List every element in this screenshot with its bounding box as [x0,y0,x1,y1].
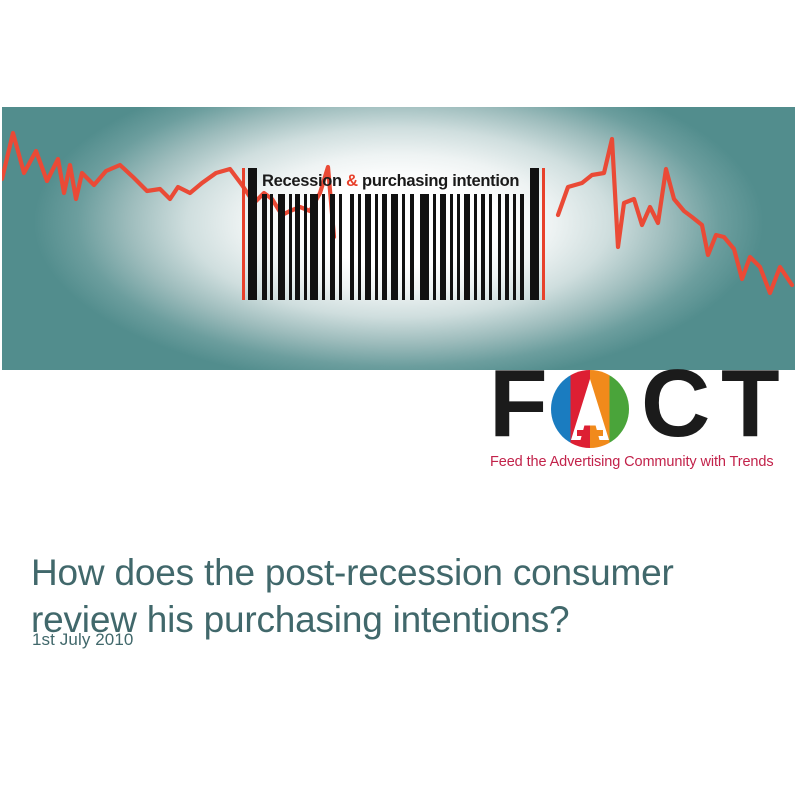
barcode-label: Recession & purchasing intention [262,170,542,192]
logo-letter-a-colorwheel [551,370,629,448]
logo-tagline: Feed the Advertising Community with Tren… [490,454,774,470]
barcode-graphic: Recession & purchasing intention [242,168,556,300]
logo-letter-t: T [721,360,778,448]
logo-letter-f: F [489,360,546,448]
barcode-label-part1: Recession [262,172,346,190]
page-date: 1st July 2010 [32,630,133,650]
trend-line-right [558,139,792,293]
fact-wordmark: F C T [489,366,795,454]
fact-logo: F C T Feed the [489,366,795,478]
logo-letter-c: C [641,360,708,448]
barcode-label-ampersand: & [346,172,358,190]
barcode-label-part2: purchasing intention [358,172,519,190]
hero-banner: Recession & purchasing intention [2,107,795,370]
page-title: How does the post-recession consumer rev… [31,549,751,643]
